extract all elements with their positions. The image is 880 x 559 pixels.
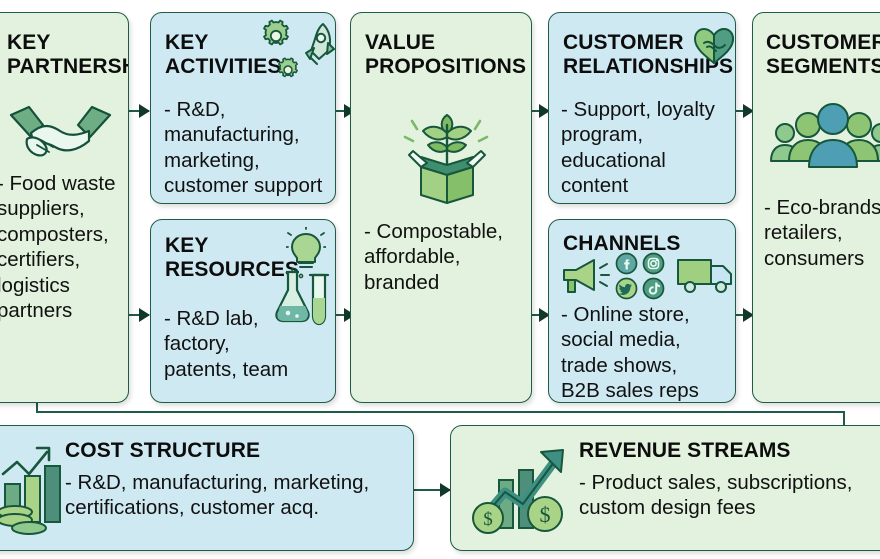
block-key-resources[interactable]: KEY RESOURCES <box>150 219 336 403</box>
instagram-icon <box>642 252 665 280</box>
customer-segments-body: - Eco-brands, retailers, consumers <box>764 195 880 271</box>
value-propositions-title: VALUE PROPOSITIONS <box>365 31 525 78</box>
business-model-canvas: KEY PARTNERSHIPS - Food waste suppliers,… <box>0 0 880 559</box>
block-key-partnerships[interactable]: KEY PARTNERSHIPS - Food waste suppliers,… <box>0 12 129 403</box>
key-activities-body: - R&D, manufacturing, marketing, custome… <box>164 97 336 199</box>
block-customer-segments[interactable]: CUSTOMER SEGMENTS - Eco-brands, retailer… <box>752 12 880 403</box>
block-value-propositions[interactable]: VALUE PROPOSITIONS - Comp <box>350 12 532 403</box>
block-channels[interactable]: CHANNELS <box>548 219 736 403</box>
facebook-icon <box>615 252 638 280</box>
delivery-truck-icon <box>675 252 736 301</box>
arrow-kp-to-kr <box>139 308 150 322</box>
key-partnerships-title: KEY PARTNERSHIPS <box>7 31 125 78</box>
handshake-icon <box>3 95 118 170</box>
gear-icon <box>259 19 293 58</box>
svg-text:$: $ <box>540 502 551 527</box>
arrow-kp-to-ka <box>139 104 150 118</box>
customer-relationships-body: - Support, loyalty program, educational … <box>561 97 736 199</box>
megaphone-icon <box>558 256 614 303</box>
tiktok-icon <box>642 277 665 305</box>
cost-structure-body: - R&D, manufacturing, marketing, certifi… <box>65 470 405 521</box>
revenue-streams-body: - Product sales, subscriptions, custom d… <box>579 470 880 521</box>
key-partnerships-body: - Food waste suppliers, composters, cert… <box>0 171 129 323</box>
connector-bottom-loop <box>36 411 844 413</box>
twitter-icon <box>615 277 638 305</box>
growth-chart-dollar-icon: $ $ <box>471 442 575 543</box>
key-resources-body: - R&D lab, factory, patents, team <box>164 306 336 382</box>
people-group-icon <box>763 95 880 184</box>
block-customer-relationships[interactable]: CUSTOMER RELATIONSHIPS - Support, loyalt… <box>548 12 736 204</box>
cost-structure-title: COST STRUCTURE <box>65 439 405 463</box>
block-revenue-streams[interactable]: $ $ REVENUE STREAMS - Product sales, sub… <box>450 425 880 551</box>
block-key-activities[interactable]: KEY ACTIVITIES - R&D, manufactu <box>150 12 336 204</box>
value-propositions-body: - Compostable, affordable, branded <box>364 219 532 295</box>
customer-segments-title: CUSTOMER SEGMENTS <box>766 31 880 78</box>
block-cost-structure[interactable]: COST STRUCTURE - R&D, manufacturing, mar… <box>0 425 414 551</box>
plant-in-box-icon <box>387 95 507 212</box>
heart-handshake-icon <box>692 25 736 72</box>
revenue-streams-title: REVENUE STREAMS <box>579 439 880 463</box>
svg-text:$: $ <box>483 509 493 530</box>
channels-body: - Online store, social media, trade show… <box>561 302 736 403</box>
rocket-icon <box>297 21 336 78</box>
